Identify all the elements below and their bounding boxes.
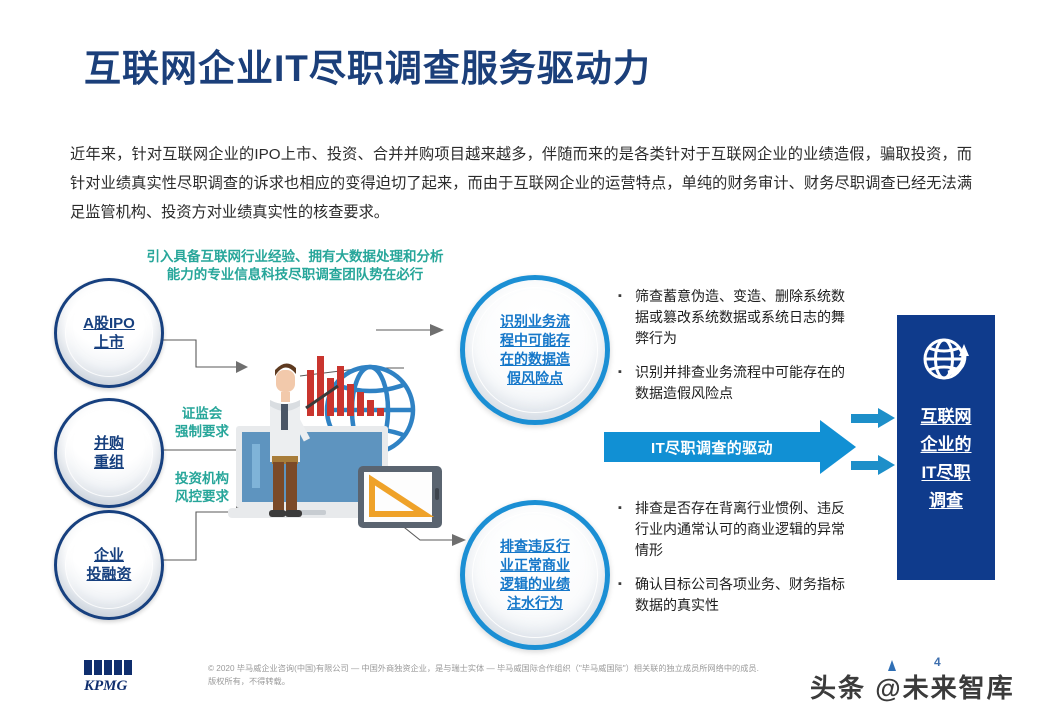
list-item: ▪ 识别并排查业务流程中可能存在的数据造假风险点 [618,362,853,404]
list-item: ▪ 排查是否存在背离行业惯例、违反行业内通常认可的商业逻辑的异常情形 [618,498,853,561]
page-number: 4 [934,655,941,669]
globe-arrow-icon [918,333,974,389]
annotation-team-advice: 引入具备互联网行业经验、拥有大数据处理和分析能力的专业信息科技尽职调查团队势在必… [140,248,450,284]
list-item: ▪ 筛查蓄意伪造、变造、删除系统数据或篡改系统数据或系统日志的舞弊行为 [618,286,853,349]
driver-circle-merger[interactable]: 并购 重组 [54,398,164,508]
bullet-list-business-logic: ▪ 排查是否存在背离行业惯例、违反行业内通常认可的商业逻辑的异常情形 ▪ 确认目… [618,498,853,629]
bullet-marker-icon: ▪ [618,498,635,561]
driver-circle-financing-label: 企业 投融资 [86,546,131,584]
outcome-circle-data-fraud[interactable]: 识别业务流 程中可能存 在的数据造 假风险点 [460,275,610,425]
svg-text:KPMG: KPMG [84,678,128,694]
driver-circle-financing[interactable]: 企业 投融资 [54,510,164,620]
feeder-arrow-top-icon [851,408,897,428]
bullet-marker-icon: ▪ [618,362,635,404]
bullet-list-data-fraud: ▪ 筛查蓄意伪造、变造、删除系统数据或篡改系统数据或系统日志的舞弊行为 ▪ 识别… [618,286,853,417]
driver-banner-label: IT尽职调查的驱动 [651,437,773,458]
slide-canvas: 互联网企业IT尽职调查服务驱动力 近年来，针对互联网企业的IPO上市、投资、合并… [0,0,1040,720]
footer-copyright: © 2020 毕马威企业咨询(中国)有限公司 — 中国外商独资企业，是与瑞士实体… [208,662,848,688]
center-illustration [228,348,460,573]
kpmg-logo: KPMG [84,660,148,694]
watermark-mark-icon [885,660,899,674]
driver-circle-ipo[interactable]: A股IPO 上市 [54,278,164,388]
driver-banner: IT尽职调查的驱动 [604,432,820,462]
driver-circle-ipo-label: A股IPO 上市 [83,314,135,352]
outcome-circle-business-logic-label: 排查违反行 业正常商业 逻辑的业绩 注水行为 [483,537,587,613]
result-box[interactable]: 互联网 企业的 IT尽职 调查 [897,315,995,580]
result-box-label: 互联网 企业的 IT尽职 调查 [921,403,972,515]
page-title: 互联网企业IT尽职调查服务驱动力 [84,38,651,92]
tablet-ruler-icon [358,466,442,528]
bullet-marker-icon: ▪ [618,574,635,616]
feeder-arrow-bottom-icon [851,455,897,475]
bullet-marker-icon: ▪ [618,286,635,349]
intro-paragraph: 近年来，针对互联网企业的IPO上市、投资、合并并购项目越来越多，伴随而来的是各类… [70,140,972,227]
outcome-circle-data-fraud-label: 识别业务流 程中可能存 在的数据造 假风险点 [483,312,587,388]
list-item: ▪ 确认目标公司各项业务、财务指标数据的真实性 [618,574,853,616]
outcome-circle-business-logic[interactable]: 排查违反行 业正常商业 逻辑的业绩 注水行为 [460,500,610,650]
watermark-label: 头条 @未来智库 [810,668,1015,705]
driver-circle-merger-label: 并购 重组 [94,434,124,472]
